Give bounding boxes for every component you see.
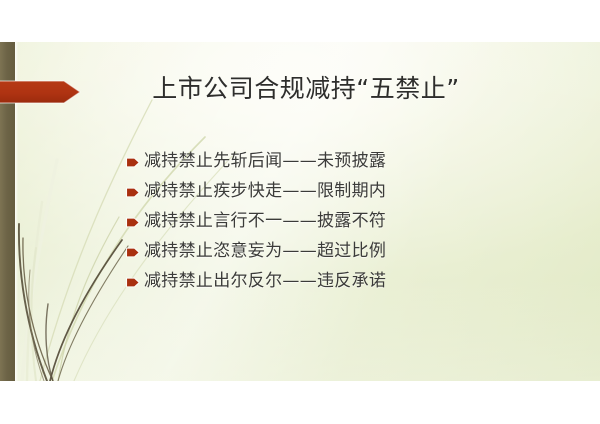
list-item: 减持禁止先斩后闻——未预披露 xyxy=(126,146,546,176)
list-item: 减持禁止出尔反尔——违反承诺 xyxy=(126,266,546,296)
bullet-list: 减持禁止先斩后闻——未预披露 减持禁止疾步快走——限制期内 减持禁止言行不一——… xyxy=(126,146,546,296)
list-item-label: 减持禁止言行不一——披露不符 xyxy=(144,210,386,232)
red-arrow-bullet-icon xyxy=(126,247,140,258)
list-item-label: 减持禁止出尔反尔——违反承诺 xyxy=(144,270,386,292)
red-arrow-bullet-icon xyxy=(126,277,140,288)
list-item-label: 减持禁止疾步快走——限制期内 xyxy=(144,180,386,202)
red-arrow-bullet-icon xyxy=(126,217,140,228)
list-item-label: 减持禁止先斩后闻——未预披露 xyxy=(144,150,386,172)
page-title: 上市公司合规减持“五禁止” xyxy=(96,72,516,106)
list-item: 减持禁止恣意妄为——超过比例 xyxy=(126,236,546,266)
list-item: 减持禁止言行不一——披露不符 xyxy=(126,206,546,236)
list-item-label: 减持禁止恣意妄为——超过比例 xyxy=(144,240,386,262)
arrow-banner-icon xyxy=(0,78,82,106)
slide-canvas: 上市公司合规减持“五禁止” 减持禁止先斩后闻——未预披露 减持禁止疾步快走——限… xyxy=(0,42,600,381)
list-item: 减持禁止疾步快走——限制期内 xyxy=(126,176,546,206)
red-arrow-bullet-icon xyxy=(126,157,140,168)
red-arrow-bullet-icon xyxy=(126,187,140,198)
